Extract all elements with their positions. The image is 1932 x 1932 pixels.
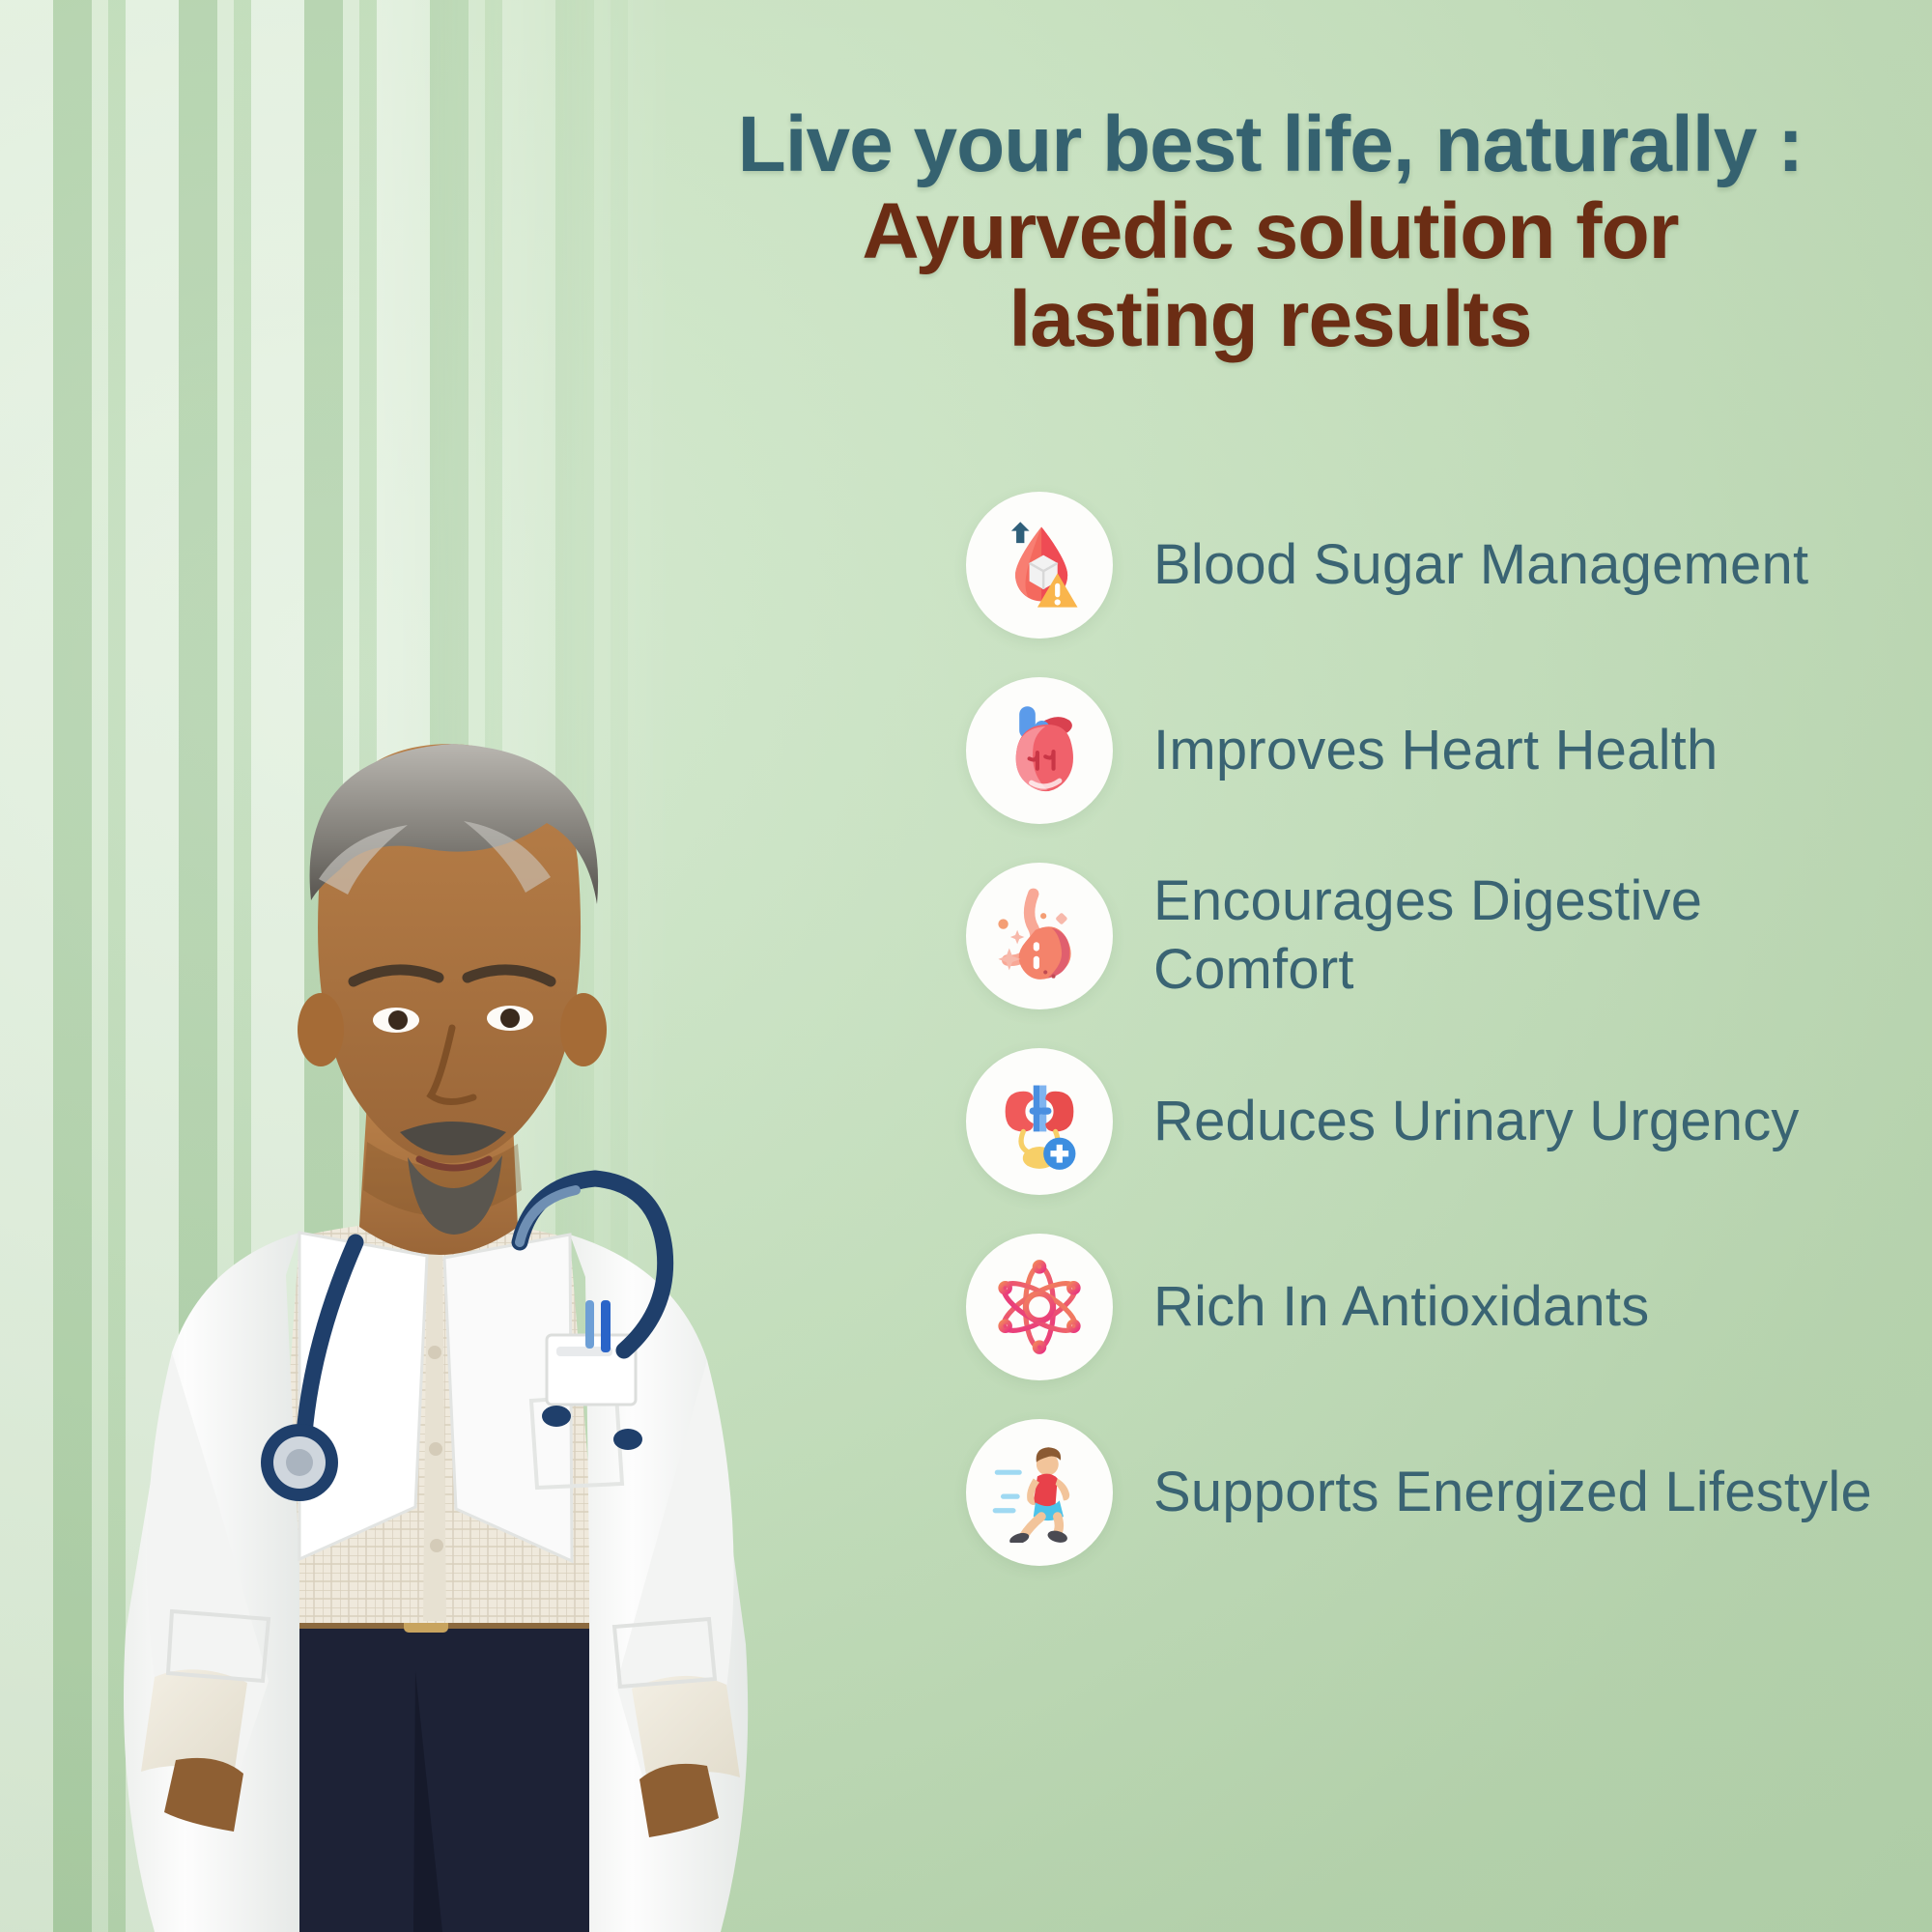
anatomical-heart-icon [989, 700, 1090, 801]
atom-antioxidant-icon [989, 1257, 1090, 1357]
benefit-item-heart-health[interactable]: Improves Heart Health [966, 673, 1893, 828]
stomach-digestive-icon [989, 886, 1090, 986]
kidneys-urinary-icon [989, 1071, 1090, 1172]
blood-sugar-drop-icon [989, 515, 1090, 615]
benefit-item-energized-lifestyle[interactable]: Supports Energized Lifestyle [966, 1415, 1893, 1570]
running-person-icon [989, 1442, 1090, 1543]
benefit-label: Reduces Urinary Urgency [1153, 1088, 1800, 1156]
benefit-item-digestive-comfort[interactable]: Encourages Digestive Comfort [966, 859, 1893, 1013]
benefit-icon-bubble [966, 1048, 1113, 1195]
benefit-label: Supports Energized Lifestyle [1153, 1459, 1872, 1527]
headline-line-1: Live your best life, naturally : [638, 104, 1903, 185]
benefit-label: Rich In Antioxidants [1153, 1273, 1649, 1342]
benefit-icon-bubble [966, 677, 1113, 824]
benefit-icon-bubble [966, 1234, 1113, 1380]
benefit-icon-bubble [966, 1419, 1113, 1566]
benefit-label: Blood Sugar Management [1153, 531, 1808, 600]
headline-line-3: lasting results [638, 279, 1903, 360]
benefit-icon-bubble [966, 492, 1113, 639]
benefit-label: Improves Heart Health [1153, 717, 1718, 785]
headline-block: Live your best life, naturally : Ayurved… [638, 104, 1903, 360]
benefit-icon-bubble [966, 863, 1113, 1009]
benefit-item-blood-sugar[interactable]: Blood Sugar Management [966, 488, 1893, 642]
benefits-list: Blood Sugar Management Improves Heart He… [966, 488, 1893, 1570]
benefit-label: Encourages Digestive Comfort [1153, 867, 1888, 1005]
benefit-item-urinary-urgency[interactable]: Reduces Urinary Urgency [966, 1044, 1893, 1199]
benefit-item-antioxidants[interactable]: Rich In Antioxidants [966, 1230, 1893, 1384]
headline-line-2: Ayurvedic solution for [638, 191, 1903, 272]
